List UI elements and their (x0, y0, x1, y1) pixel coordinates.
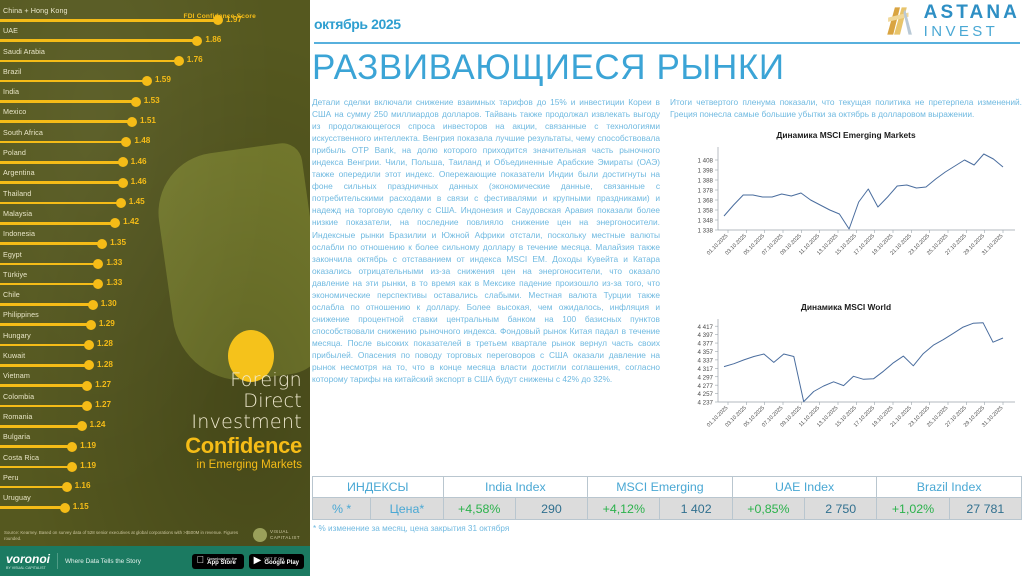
fdi-bar-row: Chile1.30 (0, 290, 310, 310)
fdi-value-label: 1.24 (90, 420, 106, 429)
table-row: % * Цена* +4,58% 290 +4,12% 1 402 +0,85%… (313, 498, 1022, 520)
india-price: 290 (515, 498, 587, 520)
fdi-bar-row: Uruguay1.15 (0, 493, 310, 513)
fdi-country-label: Poland (3, 148, 26, 157)
voronoi-logo: voronoi BY VISUAL CAPITALIST (6, 552, 50, 570)
article-columns: Детали сделки включали снижение взаимных… (312, 96, 1022, 464)
fdi-dot (97, 239, 107, 249)
fdi-bar (0, 323, 91, 326)
fdi-bar (0, 344, 89, 347)
fdi-value-label: 1.27 (95, 380, 111, 389)
y-tick-label: 1 358 (698, 208, 714, 215)
wordmark-line-1: Foreign (142, 370, 302, 391)
fdi-bar (0, 283, 98, 286)
fdi-bar-row: Poland1.46 (0, 148, 310, 168)
fdi-dot (62, 482, 72, 492)
fdi-value-label: 1.42 (123, 217, 139, 226)
astana-logo-text: ASTANA INVEST (924, 3, 1020, 39)
fdi-dot (118, 178, 128, 188)
fdi-country-label: UAE (3, 26, 18, 35)
chart-msci-emerging-markets: 1 3381 3481 3581 3681 3781 3881 3981 408… (670, 142, 1022, 292)
y-tick-label: 4 397 (698, 332, 714, 339)
table-footnote: * % изменение за месяц, цена закрытия 31… (313, 524, 509, 533)
y-tick-label: 4 417 (698, 324, 714, 331)
fdi-country-label: Argentina (3, 168, 35, 177)
article-right-text: Итоги четвертого пленума показали, что т… (670, 96, 1022, 120)
fdi-legend-label: FDI Confidence Score (183, 13, 256, 20)
uae-pct: +0,85% (732, 498, 804, 520)
fdi-bar (0, 60, 179, 63)
article-left-column: Детали сделки включали снижение взаимных… (312, 96, 660, 464)
fdi-value-label: 1.53 (144, 96, 160, 105)
fdi-country-label: Costa Rica (3, 453, 39, 462)
fdi-bar (0, 141, 126, 144)
fdi-bar-row: Peru1.16 (0, 473, 310, 493)
fdi-value-label: 1.15 (73, 502, 89, 511)
fdi-dot (67, 442, 77, 452)
y-tick-label: 1 338 (698, 228, 714, 235)
fdi-country-label: Malaysia (3, 209, 32, 218)
fdi-bar-row: Egypt1.33 (0, 250, 310, 270)
infographic-footer: voronoi BY VISUAL CAPITALIST Where Data … (0, 546, 310, 576)
fdi-dot (93, 279, 103, 289)
fdi-value-label: 1.46 (131, 177, 147, 186)
fdi-bar (0, 222, 115, 225)
series-line (724, 323, 1003, 402)
y-tick-label: 1 408 (698, 158, 714, 165)
visual-capitalist-badge: VISUAL CAPITALIST (253, 528, 300, 542)
publication-date: октябрь 2025 (314, 16, 401, 32)
fdi-bar-row: Argentina1.46 (0, 168, 310, 188)
fdi-dot (93, 259, 103, 269)
fdi-bar (0, 161, 123, 164)
fdi-country-label: Brazil (3, 67, 22, 76)
fdi-country-label: Colombia (3, 392, 34, 401)
uae-price: 2 750 (805, 498, 877, 520)
fdi-bar-row: Mexico1.51 (0, 107, 310, 127)
google-play-big-text: Google Play (264, 561, 299, 567)
fdi-bar-row: South Africa1.48 (0, 128, 310, 148)
fdi-bar-row: Indonesia1.35 (0, 229, 310, 249)
fdi-dot (67, 462, 77, 472)
fdi-country-label: Türkiye (3, 270, 27, 279)
y-tick-label: 1 348 (698, 218, 714, 225)
fdi-country-label: South Africa (3, 128, 43, 137)
vc-badge-line-2: CAPITALIST (270, 535, 300, 541)
app-store-big-text: App Store (207, 561, 237, 567)
fdi-dot (84, 360, 94, 370)
logo-secondary: INVEST (924, 24, 1020, 39)
footer-tagline: Where Data Tells the Story (65, 558, 141, 565)
fdi-bar (0, 100, 136, 103)
fdi-infographic-panel: FDI Confidence Score China + Hong Kong1.… (0, 0, 310, 576)
row-label-percent: % * (313, 498, 371, 520)
fdi-value-label: 1.29 (99, 319, 115, 328)
fdi-country-label: Mexico (3, 107, 26, 116)
y-tick-label: 1 388 (698, 178, 714, 185)
fdi-bar (0, 486, 67, 489)
fdi-value-label: 1.16 (75, 481, 91, 490)
fdi-dot (86, 320, 96, 330)
fdi-country-label: India (3, 87, 19, 96)
fdi-dot (82, 381, 92, 391)
fdi-country-label: Egypt (3, 250, 22, 259)
fdi-dot (142, 76, 152, 86)
fdi-country-label: Bulgaria (3, 432, 30, 441)
fdi-bar (0, 242, 102, 245)
row-label-price: Цена* (371, 498, 443, 520)
fdi-bar (0, 445, 72, 448)
fdi-dot (77, 421, 87, 431)
fdi-bar-row: China + Hong Kong1.97 (0, 6, 310, 26)
report-content: октябрь 2025 ASTANA INVEST РАЗВИВАЮЩИЕСЯ… (310, 0, 1024, 576)
fdi-country-label: Uruguay (3, 493, 31, 502)
article-right-column: Итоги четвертого пленума показали, что т… (670, 96, 1022, 464)
chart-title-msci-em: Динамика MSCI Emerging Markets (670, 130, 1022, 140)
fdi-country-label: Vietnam (3, 371, 30, 380)
brand-bar: октябрь 2025 ASTANA INVEST (310, 0, 1024, 46)
fdi-bar (0, 120, 132, 123)
table-header-indices: ИНДЕКСЫ (313, 477, 444, 498)
fdi-value-label: 1.33 (106, 258, 122, 267)
fdi-bar-row: Brazil1.59 (0, 67, 310, 87)
fdi-dot (192, 36, 202, 46)
fdi-value-label: 1.35 (110, 238, 126, 247)
wordmark-subtitle: in Emerging Markets (142, 459, 302, 472)
table-header-uae: UAE Index (732, 477, 877, 498)
y-tick-label: 4 277 (698, 383, 714, 390)
fdi-dot (82, 401, 92, 411)
msci-emerging-price: 1 402 (660, 498, 732, 520)
fdi-country-label: Chile (3, 290, 20, 299)
y-tick-label: 1 398 (698, 168, 714, 175)
y-tick-label: 4 357 (698, 349, 714, 356)
fdi-country-label: China + Hong Kong (3, 6, 68, 15)
fdi-bar-row: Malaysia1.42 (0, 209, 310, 229)
fdi-dot (84, 340, 94, 350)
google-play-badge[interactable]: ▶ GET IT ON Google Play (249, 554, 304, 569)
app-store-badge[interactable]:  Download on the App Store (192, 554, 244, 569)
fdi-bar (0, 181, 123, 184)
wordmark-line-2: Direct (142, 391, 302, 412)
fdi-bar-row: UAE1.86 (0, 26, 310, 46)
table-header-brazil: Brazil Index (877, 477, 1022, 498)
fdi-dot (110, 218, 120, 228)
article-left-text: Детали сделки включали снижение взаимных… (312, 96, 660, 385)
slide-root: FDI Confidence Score China + Hong Kong1.… (0, 0, 1024, 576)
fdi-bar (0, 263, 98, 266)
fdi-bar-row: Türkiye1.33 (0, 270, 310, 290)
india-pct: +4,58% (443, 498, 515, 520)
voronoi-logo-text: voronoi (6, 552, 50, 566)
fdi-bar (0, 202, 121, 205)
fdi-value-label: 1.27 (95, 400, 111, 409)
y-tick-label: 4 337 (698, 358, 714, 365)
fdi-bar (0, 466, 72, 469)
fdi-bar-row: India1.53 (0, 87, 310, 107)
fdi-dot (60, 503, 70, 513)
y-tick-label: 1 368 (698, 198, 714, 205)
fdi-bar (0, 39, 197, 42)
table-header-india: India Index (443, 477, 588, 498)
fdi-bar (0, 384, 87, 387)
page-title: РАЗВИВАЮЩИЕСЯ РЫНКИ (312, 48, 785, 88)
fdi-bar (0, 364, 89, 367)
fdi-value-label: 1.28 (97, 339, 113, 348)
fdi-country-label: Thailand (3, 189, 31, 198)
fdi-country-label: Kuwait (3, 351, 25, 360)
fdi-bar (0, 506, 65, 509)
fdi-bar-row: Saudi Arabia1.76 (0, 47, 310, 67)
fdi-country-label: Peru (3, 473, 19, 482)
infographic-source-note: Source: Kearney. Based on survey data of… (4, 530, 244, 542)
brazil-pct: +1,02% (877, 498, 949, 520)
fdi-country-label: Hungary (3, 331, 31, 340)
fdi-dot (116, 198, 126, 208)
fdi-value-label: 1.76 (187, 55, 203, 64)
y-tick-label: 4 297 (698, 374, 714, 381)
msci-emerging-pct: +4,12% (588, 498, 660, 520)
footer-divider (57, 553, 58, 569)
fdi-country-label: Saudi Arabia (3, 47, 45, 56)
voronoi-logo-subtext: BY VISUAL CAPITALIST (6, 566, 50, 570)
brazil-price: 27 781 (949, 498, 1021, 520)
fdi-wordmark: Foreign Direct Investment Confidence in … (142, 370, 302, 472)
fdi-value-label: 1.86 (205, 35, 221, 44)
visual-capitalist-icon (253, 528, 267, 542)
y-tick-label: 4 237 (698, 400, 714, 407)
table-header-row: ИНДЕКСЫ India Index MSCI Emerging UAE In… (313, 477, 1022, 498)
google-play-icon: ▶ (254, 556, 262, 566)
apple-icon:  (197, 556, 205, 566)
fdi-bar-row: Philippines1.29 (0, 310, 310, 330)
fdi-bar (0, 303, 93, 306)
chart-title-msci-world: Динамика MSCI World (670, 302, 1022, 312)
fdi-value-label: 1.33 (106, 278, 122, 287)
fdi-country-label: Indonesia (3, 229, 35, 238)
y-tick-label: 1 378 (698, 188, 714, 195)
fdi-country-label: Philippines (3, 310, 39, 319)
fdi-value-label: 1.46 (131, 157, 147, 166)
fdi-bar-row: Thailand1.45 (0, 189, 310, 209)
astana-invest-logo: ASTANA INVEST (883, 3, 1020, 39)
series-line (724, 154, 1003, 229)
fdi-dot (88, 300, 98, 310)
fdi-dot (131, 97, 141, 107)
fdi-bar (0, 80, 147, 83)
astana-logo-mark (883, 4, 917, 38)
table-header-msci-emerging: MSCI Emerging (588, 477, 733, 498)
fdi-dot (121, 137, 131, 147)
fdi-value-label: 1.48 (134, 136, 150, 145)
fdi-dot (174, 56, 184, 66)
fdi-country-label: Romania (3, 412, 32, 421)
fdi-dot (118, 157, 128, 167)
fdi-dot (127, 117, 137, 127)
logo-primary: ASTANA (924, 3, 1020, 22)
fdi-bar (0, 425, 82, 428)
wordmark-confidence: Confidence (142, 434, 302, 458)
fdi-value-label: 1.28 (97, 360, 113, 369)
chart-msci-world: 4 2374 2574 2774 2974 3174 3374 3574 377… (670, 314, 1022, 464)
fdi-value-label: 1.19 (80, 441, 96, 450)
y-tick-label: 4 377 (698, 341, 714, 348)
y-tick-label: 4 317 (698, 366, 714, 373)
fdi-bar (0, 405, 87, 408)
index-summary-table: ИНДЕКСЫ India Index MSCI Emerging UAE In… (312, 476, 1022, 520)
fdi-value-label: 1.19 (80, 461, 96, 470)
brand-rule (314, 42, 1020, 44)
app-store-badges:  Download on the App Store ▶ GET IT ON … (192, 554, 304, 569)
fdi-value-label: 1.59 (155, 75, 171, 84)
fdi-value-label: 1.45 (129, 197, 145, 206)
wordmark-line-3: Investment (142, 412, 302, 433)
y-tick-label: 4 257 (698, 391, 714, 398)
fdi-value-label: 1.51 (140, 116, 156, 125)
fdi-value-label: 1.30 (101, 299, 117, 308)
